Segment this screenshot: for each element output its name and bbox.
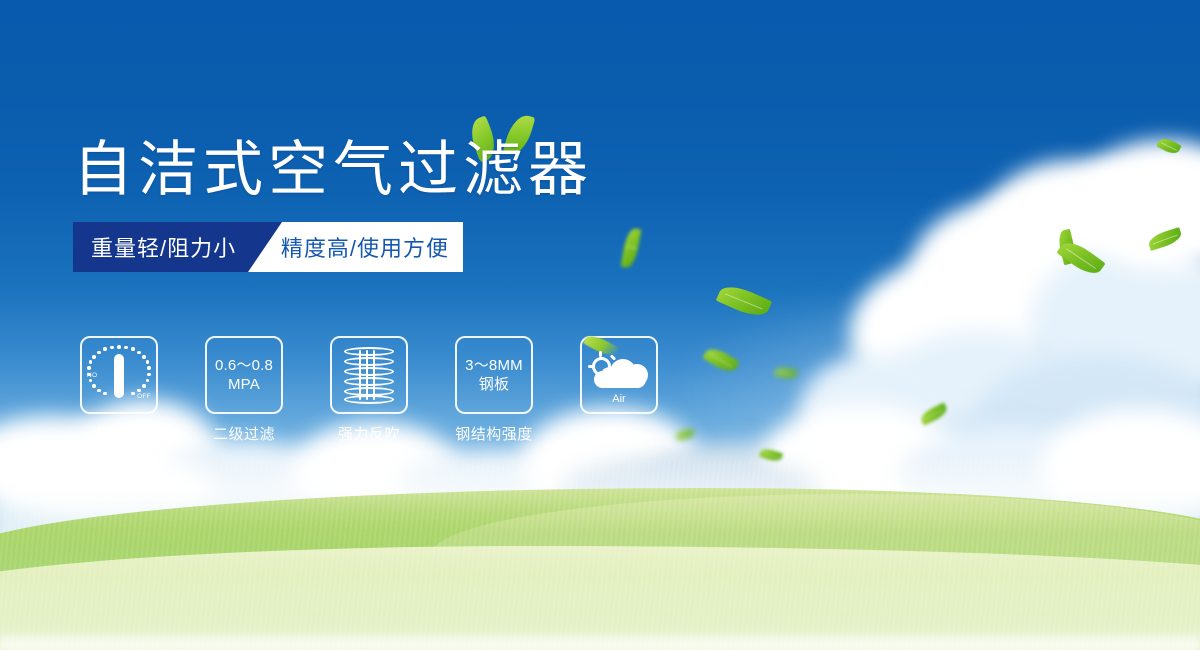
feature-item-secondary-filter[interactable]: 0.6～0.8 MPA 二级过滤 [205, 336, 283, 444]
feature-item-control-gauge[interactable]: NO OFF 控制仪 [80, 336, 158, 444]
feature-item-dust-collection[interactable]: Air 集尘 [580, 336, 658, 444]
gauge-icon: NO OFF [88, 345, 150, 405]
gauge-needle [114, 354, 124, 398]
steel-thickness-icon: 3～8MM 钢板 [465, 356, 523, 394]
feature-icon-box: 0.6～0.8 MPA [205, 336, 283, 414]
feature-item-steel-strength[interactable]: 3～8MM 钢板 钢结构强度 [455, 336, 533, 444]
feature-label: 集尘 [603, 423, 634, 444]
hero-banner: 自洁式空气过滤器 重量轻/阻力小 精度高/使用方便 [0, 0, 1200, 650]
steel-line-1: 3～8MM [465, 356, 523, 375]
feature-label: 二级过滤 [213, 423, 275, 444]
filter-stack-icon [344, 347, 394, 403]
air-cloud-icon: Air [588, 347, 650, 403]
feature-icon-box: 3～8MM 钢板 [455, 336, 533, 414]
feature-list: NO OFF 控制仪 0.6～0.8 MPA 二级过滤 [80, 336, 658, 444]
subtitle-left-text: 重量轻/阻力小 [91, 231, 236, 263]
gauge-label-no: NO [87, 372, 97, 379]
feature-icon-box [330, 336, 408, 414]
grass-field [0, 460, 1200, 650]
air-label: Air [588, 393, 650, 405]
subtitle-bar: 重量轻/阻力小 精度高/使用方便 [73, 222, 463, 272]
gauge-label-off: OFF [137, 393, 151, 400]
grass-bottom-edge [0, 634, 1200, 650]
feature-label: 钢结构强度 [455, 423, 533, 444]
headline-block: 自洁式空气过滤器 重量轻/阻力小 精度高/使用方便 [73, 140, 713, 272]
pressure-line-1: 0.6～0.8 [215, 356, 273, 375]
page-title: 自洁式空气过滤器 [73, 140, 713, 200]
subtitle-right-text: 精度高/使用方便 [281, 231, 449, 263]
feature-icon-box: Air [580, 336, 658, 414]
feature-item-reverse-blow[interactable]: 强力反吹 [330, 336, 408, 444]
grass-highlight [0, 530, 1200, 650]
feature-label: 强力反吹 [338, 423, 400, 444]
steel-line-2: 钢板 [465, 375, 523, 394]
feature-label: 控制仪 [96, 423, 143, 444]
subtitle-right-panel: 精度高/使用方便 [248, 222, 463, 272]
pressure-line-2: MPA [215, 375, 273, 394]
pressure-value-icon: 0.6～0.8 MPA [215, 356, 273, 394]
feature-icon-box: NO OFF [80, 336, 158, 414]
